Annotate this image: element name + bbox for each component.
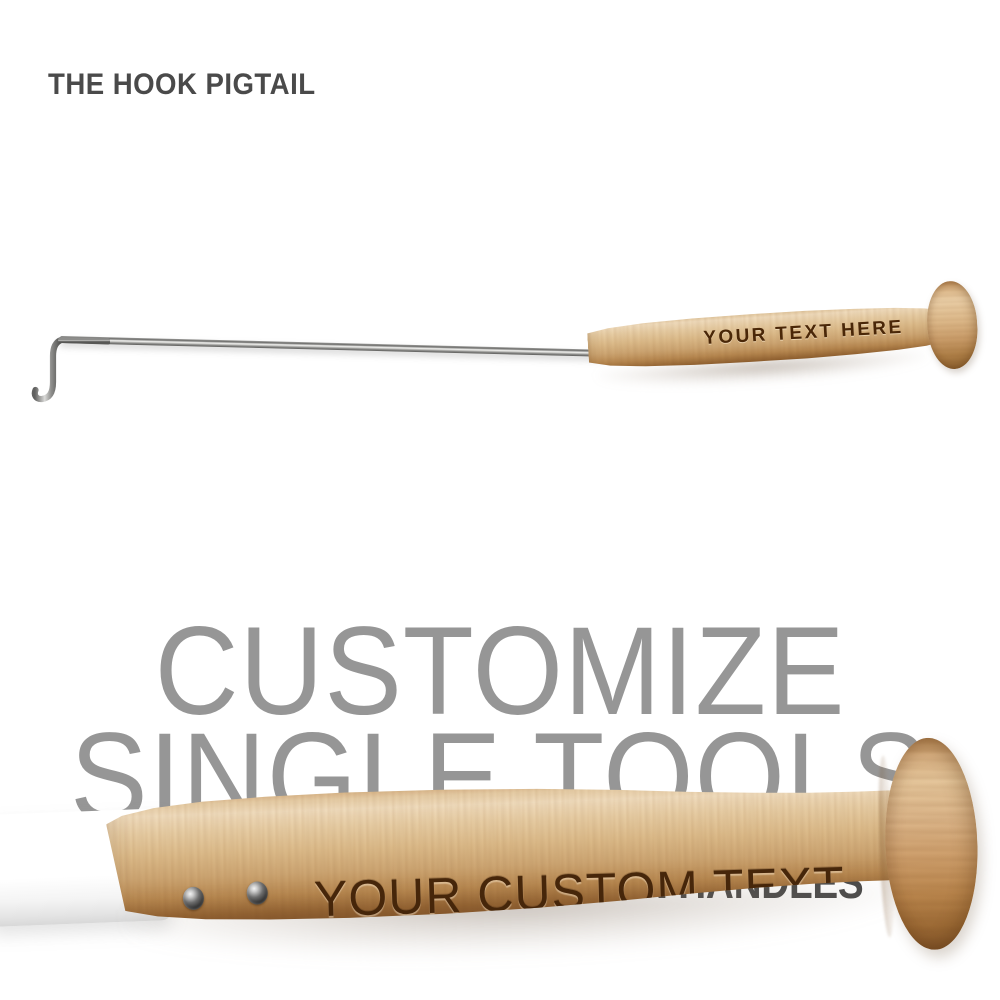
handle-closeup-image: YOUR CUSTOM TEXT (0, 370, 1000, 630)
small-handle-knob (925, 280, 980, 371)
handle-rivet (182, 887, 204, 911)
handle-rivet (246, 881, 268, 905)
large-handle-group: YOUR CUSTOM TEXT (104, 729, 962, 990)
hook-tip-icon (20, 320, 110, 420)
tool-shaft (60, 336, 605, 357)
hook-pigtail-tool-image: YOUR TEXT HERE (0, 140, 1000, 310)
page-title: THE HOOK PIGTAIL (48, 68, 316, 102)
product-banner: THE HOOK PIGTAIL (0, 0, 1000, 1000)
